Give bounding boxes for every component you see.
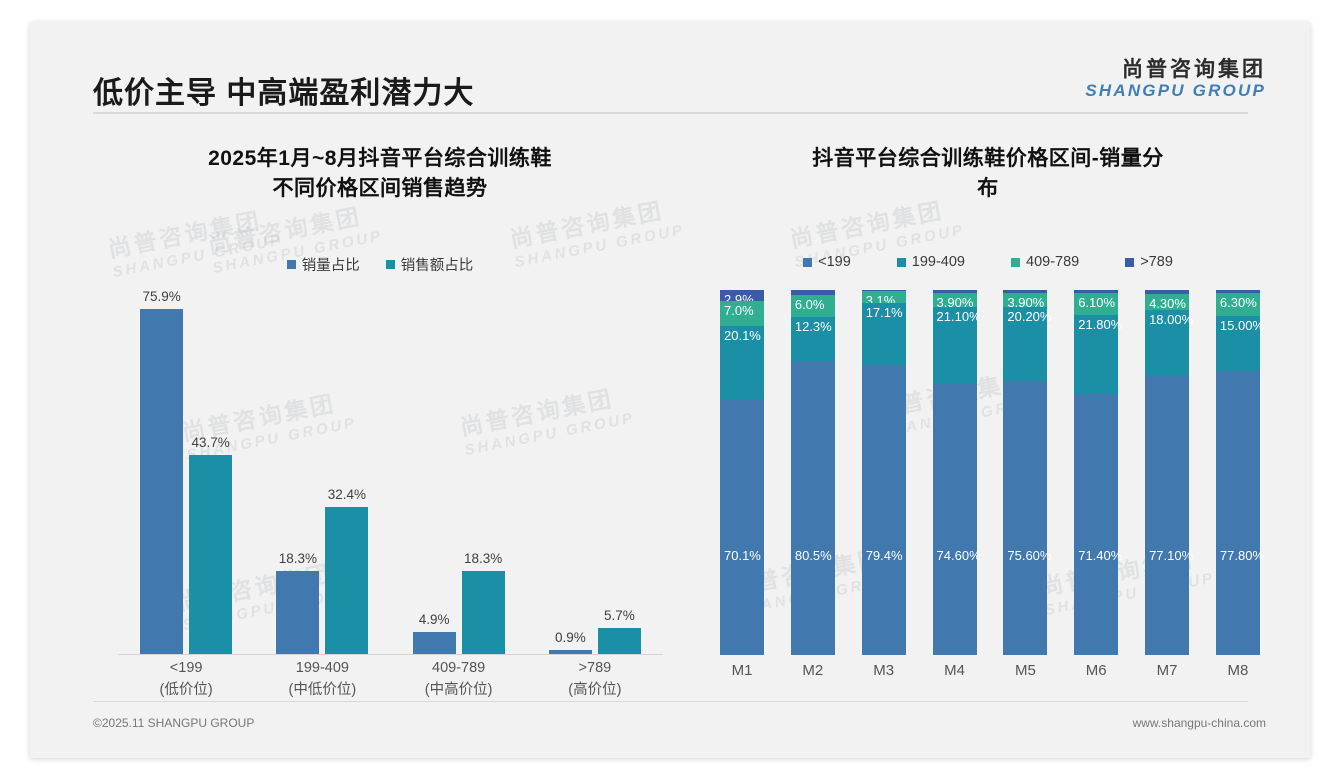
stacked-bar-M3[interactable]: 0.4%3.1%17.1%79.4% (862, 290, 906, 655)
stack-value-label: 21.10% (937, 309, 981, 324)
stack-segment-409-789-M7[interactable]: 4.30% (1145, 294, 1189, 310)
legend-item-199-409[interactable]: 199-409 (897, 254, 965, 270)
stack-value-label: 18.00% (1149, 312, 1193, 327)
brand-logo: 尚普咨询集团 SHANGPU GROUP (1085, 58, 1266, 101)
x-axis-tick-M7: M7 (1145, 662, 1189, 679)
stack-value-label: 7.0% (724, 303, 754, 318)
chart-panel-volume-distribution: 抖音平台综合训练鞋价格区间-销量分 布 <199199-409409-789>7… (698, 122, 1278, 722)
stack-value-label: 12.3% (795, 319, 832, 334)
stack-value-label: 70.1% (724, 548, 761, 563)
stacked-bar-plot-area: 2.9%7.0%20.1%70.1%1.3%6.0%12.3%80.5%0.4%… (720, 290, 1260, 655)
stack-segment-<199-M8[interactable]: 77.80% (1216, 371, 1260, 655)
x-axis-tick-M4: M4 (933, 662, 977, 679)
bar-销量占比-<199[interactable]: 75.9% (140, 290, 183, 654)
bar-value-label: 32.4% (328, 487, 366, 502)
stack-value-label: 71.40% (1078, 548, 1122, 563)
bar-value-label: 5.7% (604, 608, 635, 623)
logo-english-text: SHANGPU GROUP (1085, 81, 1266, 101)
grouped-bars-container: 75.9%43.7%18.3%32.4%4.9%18.3%0.9%5.7% (118, 290, 663, 655)
x-tick-label: >789 (541, 658, 649, 680)
bar-rect (549, 650, 592, 654)
legend-swatch-icon (803, 258, 812, 267)
bar-rect (276, 571, 319, 654)
stacked-bar-M5[interactable]: 0.90%3.90%20.20%75.60% (1003, 290, 1047, 655)
chart-legend-left: 销量占比销售额占比 (70, 254, 690, 275)
stack-segment-199-409-M1[interactable]: 20.1% (720, 326, 764, 399)
x-axis-tick-M3: M3 (862, 662, 906, 679)
stack-segment-199-409-M2[interactable]: 12.3% (791, 317, 835, 362)
legend-swatch-icon (386, 260, 395, 269)
x-axis-tick-M5: M5 (1003, 662, 1047, 679)
stack-value-label: 75.60% (1007, 548, 1051, 563)
stack-segment-<199-M3[interactable]: 79.4% (862, 365, 906, 655)
stack-segment-<199-M7[interactable]: 77.10% (1145, 375, 1189, 655)
stack-segment-199-409-M5[interactable]: 20.20% (1003, 307, 1047, 380)
bar-group-<199: 75.9%43.7% (140, 290, 232, 654)
grouped-bar-plot-area: 75.9%43.7%18.3%32.4%4.9%18.3%0.9%5.7% (118, 290, 663, 655)
stack-value-label: 20.1% (724, 328, 761, 343)
bar-rect (325, 507, 368, 654)
stack-segment-409-789-M1[interactable]: 7.0% (720, 301, 764, 327)
legend-item-<199[interactable]: <199 (803, 254, 851, 270)
stack-segment-409-789-M8[interactable]: 6.30% (1216, 293, 1260, 316)
stack-segment-409-789-M6[interactable]: 6.10% (1074, 293, 1118, 315)
legend-item-409-789[interactable]: 409-789 (1011, 254, 1079, 270)
footer-website: www.shangpu-china.com (1133, 716, 1266, 730)
bar-value-label: 18.3% (279, 551, 317, 566)
chart-title-left: 2025年1月~8月抖音平台综合训练鞋 不同价格区间销售趋势 (70, 144, 690, 204)
x-axis-tick-M6: M6 (1074, 662, 1118, 679)
logo-chinese-text: 尚普咨询集团 (1085, 58, 1266, 81)
stack-value-label: 79.4% (866, 548, 903, 563)
legend-swatch-icon (287, 260, 296, 269)
stack-value-label: 20.20% (1007, 309, 1051, 324)
legend-label: >789 (1140, 254, 1173, 270)
stack-value-label: 6.10% (1078, 295, 1115, 310)
stack-value-label: 21.80% (1078, 317, 1122, 332)
chart-title-left-line1: 2025年1月~8月抖音平台综合训练鞋 (208, 147, 552, 170)
legend-label: 199-409 (912, 254, 965, 270)
bar-group-409-789: 4.9%18.3% (413, 290, 505, 654)
stack-segment-<199-M5[interactable]: 75.60% (1003, 381, 1047, 655)
bar-销售额占比-<199[interactable]: 43.7% (189, 290, 232, 654)
grouped-x-axis: <199(低价位)199-409(中低价位)409-789(中高价位)>789(… (118, 658, 663, 702)
legend-swatch-icon (1125, 258, 1134, 267)
legend-label: <199 (818, 254, 851, 270)
x-tick-label: <199 (132, 658, 240, 680)
stacked-bar-M2[interactable]: 1.3%6.0%12.3%80.5% (791, 290, 835, 655)
stack-segment-<199-M2[interactable]: 80.5% (791, 361, 835, 655)
x-axis-tick-409-789: 409-789(中高价位) (405, 658, 513, 702)
stack-value-label: 6.0% (795, 297, 825, 312)
header-divider (93, 112, 1248, 114)
stack-segment-199-409-M3[interactable]: 17.1% (862, 303, 906, 365)
stack-value-label: 80.5% (795, 548, 832, 563)
bar-value-label: 4.9% (419, 612, 450, 627)
bar-value-label: 43.7% (191, 435, 229, 450)
x-axis-tick-M8: M8 (1216, 662, 1260, 679)
slide-header: 低价主导 中高端盈利潜力大 尚普咨询集团 SHANGPU GROUP (30, 22, 1310, 114)
bar-销售额占比-199-409[interactable]: 32.4% (325, 290, 368, 654)
stack-segment-199-409-M4[interactable]: 21.10% (933, 307, 977, 384)
stacked-bar-M1[interactable]: 2.9%7.0%20.1%70.1% (720, 290, 764, 655)
bar-group-199-409: 18.3%32.4% (276, 290, 368, 654)
bar-value-label: 75.9% (142, 289, 180, 304)
stack-segment-409-789-M5[interactable]: 3.90% (1003, 293, 1047, 307)
chart-title-right-line2: 布 (977, 177, 999, 200)
stack-segment-199-409-M7[interactable]: 18.00% (1145, 310, 1189, 375)
stacked-bar-M8[interactable]: 0.90%6.30%15.00%77.80% (1216, 290, 1260, 655)
legend-label: 409-789 (1026, 254, 1079, 270)
bar-value-label: 18.3% (464, 551, 502, 566)
x-axis-tick-M1: M1 (720, 662, 764, 679)
stack-value-label: 15.00% (1220, 318, 1264, 333)
x-tick-label: 199-409 (268, 658, 376, 680)
stack-value-label: 74.60% (937, 548, 981, 563)
x-tick-sublabel: (中高价位) (405, 680, 513, 702)
stack-segment-<199-M6[interactable]: 71.40% (1074, 394, 1118, 655)
stack-value-label: 17.1% (866, 305, 903, 320)
slide-canvas: 尚普咨询集团 SHANGPU GROUP 尚普咨询集团 SHANGPU GROU… (30, 22, 1310, 758)
stack-segment-409-789-M4[interactable]: 3.90% (933, 293, 977, 307)
page-title: 低价主导 中高端盈利潜力大 (93, 68, 474, 112)
bar-销量占比-199-409[interactable]: 18.3% (276, 290, 319, 654)
bar-group->789: 0.9%5.7% (549, 290, 641, 654)
stack-segment-199-409-M8[interactable]: 15.00% (1216, 316, 1260, 371)
chart-title-right: 抖音平台综合训练鞋价格区间-销量分 布 (698, 144, 1278, 204)
bar-rect (462, 571, 505, 654)
legend-label: 销售额占比 (401, 254, 474, 275)
chart-panel-sales-trend: 2025年1月~8月抖音平台综合训练鞋 不同价格区间销售趋势 销量占比销售额占比… (70, 122, 690, 722)
bar-销量占比-409-789[interactable]: 4.9% (413, 290, 456, 654)
legend-label: 销量占比 (302, 254, 360, 275)
legend-swatch-icon (897, 258, 906, 267)
legend-item-销售额占比[interactable]: 销售额占比 (386, 254, 474, 275)
chart-legend-right: <199199-409409-789>789 (698, 254, 1278, 270)
legend-item-销量占比[interactable]: 销量占比 (287, 254, 360, 275)
legend-swatch-icon (1011, 258, 1020, 267)
bar-销量占比->789[interactable]: 0.9% (549, 290, 592, 654)
stacked-bar-M6[interactable]: 0.70%6.10%21.80%71.40% (1074, 290, 1118, 655)
x-tick-sublabel: (高价位) (541, 680, 649, 702)
x-tick-sublabel: (低价位) (132, 680, 240, 702)
bar-销售额占比->789[interactable]: 5.7% (598, 290, 641, 654)
bar-rect (140, 309, 183, 654)
stack-segment-409-789-M2[interactable]: 6.0% (791, 295, 835, 317)
x-tick-label: 409-789 (405, 658, 513, 680)
bar-rect (598, 628, 641, 654)
chart-title-right-line1: 抖音平台综合训练鞋价格区间-销量分 (812, 147, 1164, 170)
x-axis-tick-<199: <199(低价位) (132, 658, 240, 702)
stack-value-label: 77.10% (1149, 548, 1193, 563)
x-axis-tick-199-409: 199-409(中低价位) (268, 658, 376, 702)
stacked-x-axis: M1M2M3M4M5M6M7M8 (720, 662, 1260, 679)
stack-value-label: 6.30% (1220, 295, 1257, 310)
stack-segment-<199-M4[interactable]: 74.60% (933, 384, 977, 655)
x-axis-tick-M2: M2 (791, 662, 835, 679)
legend-item->789[interactable]: >789 (1125, 254, 1173, 270)
stack-segment-409-789-M3[interactable]: 3.1% (862, 291, 906, 302)
stacked-bar-M4[interactable]: 0.90%3.90%21.10%74.60% (933, 290, 977, 655)
x-axis-tick->789: >789(高价位) (541, 658, 649, 702)
stacked-bar-M7[interactable]: 1.20%4.30%18.00%77.10% (1145, 290, 1189, 655)
bar-rect (189, 455, 232, 654)
footer-copyright: ©2025.11 SHANGPU GROUP (93, 716, 254, 730)
stack-segment-199-409-M6[interactable]: 21.80% (1074, 315, 1118, 395)
chart-title-left-line2: 不同价格区间销售趋势 (273, 177, 488, 200)
bar-value-label: 0.9% (555, 630, 586, 645)
bar-rect (413, 632, 456, 654)
stack-segment-<199-M1[interactable]: 70.1% (720, 399, 764, 655)
bar-销售额占比-409-789[interactable]: 18.3% (462, 290, 505, 654)
x-tick-sublabel: (中低价位) (268, 680, 376, 702)
footer-divider (93, 701, 1248, 702)
stack-segment->789-M1[interactable]: 2.9% (720, 290, 764, 301)
stack-value-label: 77.80% (1220, 548, 1264, 563)
